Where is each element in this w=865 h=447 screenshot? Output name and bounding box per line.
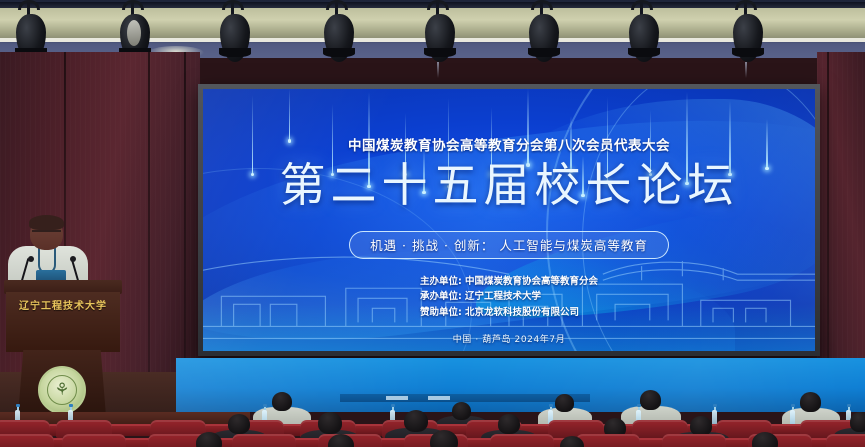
audience-member-head <box>228 414 250 434</box>
slide-title: 第二十五届校长论坛 <box>280 161 739 211</box>
slide-footer: 中国 · 葫芦岛 2024年7月 <box>453 332 566 345</box>
light-rim <box>219 48 251 57</box>
organizer-line: 主办单位: 中国煤炭教育协会高等教育分会 <box>420 274 598 290</box>
wall-texture-right <box>817 52 865 382</box>
seat <box>662 434 726 447</box>
light-rim <box>528 48 560 57</box>
microphone-capsule <box>28 256 34 262</box>
bottle-cap <box>263 404 267 407</box>
bottle-cap <box>16 404 20 407</box>
slide-organizers: 主办单位: 中国煤炭教育协会高等教育分会承办单位: 辽宁工程技术大学赞助单位: … <box>420 274 598 321</box>
audience-member-head <box>318 412 342 434</box>
stage-light <box>322 8 356 62</box>
water-bottle <box>790 410 795 425</box>
light-rim <box>424 48 456 57</box>
seat <box>490 434 554 447</box>
audience-member-head <box>555 394 574 412</box>
light-beam <box>437 62 439 78</box>
wall-seam <box>184 52 186 382</box>
bottle-cap <box>847 404 851 407</box>
audience-area <box>0 372 865 447</box>
bottle-cap <box>713 404 717 407</box>
audience-member-head <box>404 410 428 432</box>
microphone-capsule <box>70 256 76 262</box>
organizer-line: 赞助单位: 北京龙软科技股份有限公司 <box>420 305 598 321</box>
audience-member-head <box>452 402 471 420</box>
seat <box>0 434 54 447</box>
led-screen: 中国煤炭教育协会高等教育分会第八次会员代表大会 第二十五届校长论坛 机遇 · 挑… <box>203 89 815 351</box>
bottle-cap <box>791 404 795 407</box>
light-rim <box>628 48 660 57</box>
audience-member-head <box>272 392 292 411</box>
led-screen-bezel: 中国煤炭教育协会高等教育分会第八次会员代表大会 第二十五届校长论坛 机遇 · 挑… <box>198 84 820 356</box>
wall-seam <box>827 52 829 382</box>
seat <box>62 434 126 447</box>
bottle-cap <box>549 404 553 407</box>
stage-light <box>731 8 765 62</box>
stage-light <box>527 8 561 62</box>
light-beam <box>745 62 747 78</box>
audience-member-head <box>690 416 712 436</box>
slide-theme-pill: 机遇 · 挑战 · 创新： 人工智能与煤炭高等教育 <box>349 231 669 259</box>
bottle-cap <box>391 404 395 407</box>
audience-member-head <box>850 412 865 432</box>
bottle-cap <box>69 404 73 407</box>
slide-kicker: 中国煤炭教育协会高等教育分会第八次会员代表大会 <box>348 134 670 154</box>
bottle-cap <box>637 404 641 407</box>
light-rim <box>323 48 355 57</box>
stage-light <box>423 8 457 62</box>
light-rim <box>732 48 764 57</box>
seat <box>576 434 640 447</box>
wall-seam <box>148 52 150 382</box>
speaker-glasses <box>32 230 61 236</box>
wall-right <box>817 52 865 382</box>
seat <box>232 434 296 447</box>
audience-member-head <box>640 390 661 410</box>
conference-hall-photo: 中国煤炭教育协会高等教育分会第八次会员代表大会 第二十五届校长论坛 机遇 · 挑… <box>0 0 865 447</box>
audience-member-head <box>752 432 778 447</box>
podium-nameplate: 辽宁工程技术大学 <box>10 296 116 312</box>
seat <box>826 434 865 447</box>
audience-member-head <box>196 432 222 447</box>
audience-member-head <box>800 392 821 412</box>
stage-light <box>627 8 661 62</box>
audience-member-head <box>498 414 520 434</box>
audience-member-head <box>430 430 458 447</box>
slide-content: 中国煤炭教育协会高等教育分会第八次会员代表大会 第二十五届校长论坛 机遇 · 挑… <box>203 89 815 351</box>
organizer-line: 承办单位: 辽宁工程技术大学 <box>420 289 598 305</box>
speaker-hair <box>29 215 64 230</box>
stage-light <box>218 8 252 62</box>
